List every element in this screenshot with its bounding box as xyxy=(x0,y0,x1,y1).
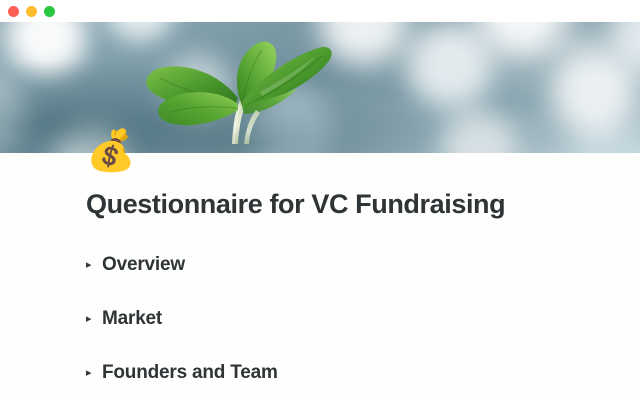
chevron-right-icon[interactable]: ▸ xyxy=(86,314,102,325)
toggle-label: Market xyxy=(102,308,162,330)
toggle-block-overview[interactable]: ▸ Overview xyxy=(86,251,566,279)
chevron-right-icon[interactable]: ▸ xyxy=(86,368,102,379)
app-window: 💰 Questionnaire for VC Fundraising ▸ Ove… xyxy=(0,0,640,400)
toggle-block-founders-and-team[interactable]: ▸ Founders and Team xyxy=(86,359,566,387)
toggle-label: Overview xyxy=(102,254,185,276)
close-window-button[interactable] xyxy=(8,6,19,17)
minimize-window-button[interactable] xyxy=(26,6,37,17)
window-titlebar xyxy=(0,0,640,22)
toggle-label: Founders and Team xyxy=(102,362,278,384)
seedling-plant-illustration xyxy=(132,26,342,153)
money-bag-icon[interactable]: 💰 xyxy=(86,128,132,174)
traffic-light-buttons xyxy=(8,6,55,17)
toggle-block-market[interactable]: ▸ Market xyxy=(86,305,566,333)
page-content: Questionnaire for VC Fundraising ▸ Overv… xyxy=(0,153,640,400)
toggle-block-list: ▸ Overview ▸ Market ▸ Founders and Team xyxy=(86,251,566,400)
chevron-right-icon[interactable]: ▸ xyxy=(86,260,102,271)
maximize-window-button[interactable] xyxy=(44,6,55,17)
page-title[interactable]: Questionnaire for VC Fundraising xyxy=(86,189,505,220)
